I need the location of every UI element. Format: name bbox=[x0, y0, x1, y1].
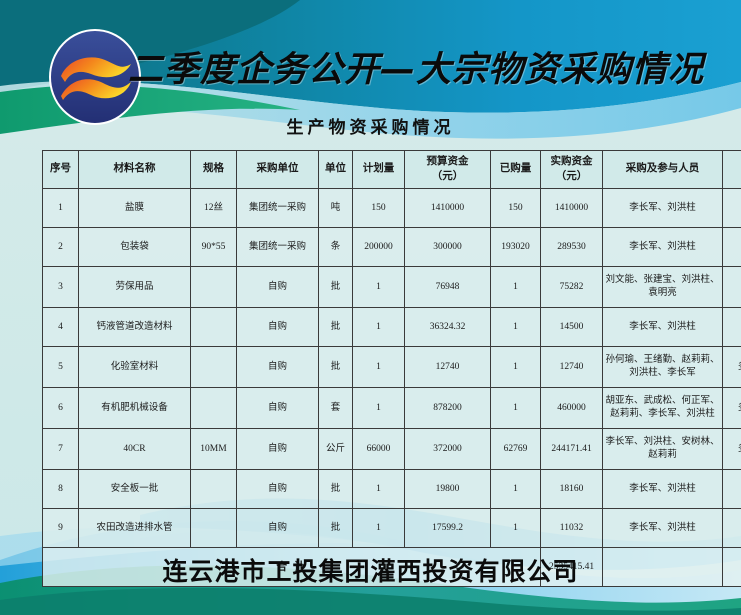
cell-people: 李长军、刘洪柱 bbox=[603, 189, 723, 228]
cell-material: 包装袋 bbox=[79, 228, 191, 267]
cell-budget-amount: 372000 bbox=[405, 429, 491, 470]
cell-purchased-qty: 1 bbox=[491, 388, 541, 429]
cell-unit: 批 bbox=[319, 267, 353, 308]
cell-unit: 批 bbox=[319, 308, 353, 347]
cell-material: 化验室材料 bbox=[79, 347, 191, 388]
cell-remark: 分批采购 bbox=[723, 509, 741, 548]
cell-remark: 库存40吨 bbox=[723, 189, 741, 228]
cell-people: 李长军、刘洪柱、安树林、 赵莉莉 bbox=[603, 429, 723, 470]
cell-no: 5 bbox=[43, 347, 79, 388]
cell-planned-qty: 1 bbox=[353, 470, 405, 509]
cell-planned-qty: 200000 bbox=[353, 228, 405, 267]
cell-purchased-qty: 1 bbox=[491, 347, 541, 388]
cell-unit: 批 bbox=[319, 470, 353, 509]
procurement-table-wrap: 序号 材料名称 规格 采购单位 单位 计划量 bbox=[42, 150, 700, 587]
cell-purchase-unit: 集团统一采购 bbox=[237, 228, 319, 267]
cell-purchase-unit: 自购 bbox=[237, 429, 319, 470]
col-header-planned-qty: 计划量 bbox=[353, 151, 405, 189]
cell-no: 6 bbox=[43, 388, 79, 429]
cell-actual-amount: 11032 bbox=[541, 509, 603, 548]
cell-planned-qty: 1 bbox=[353, 308, 405, 347]
cell-planned-qty: 1 bbox=[353, 388, 405, 429]
cell-material: 农田改造进排水管 bbox=[79, 509, 191, 548]
cell-remark: 筑包基地 bbox=[723, 228, 741, 267]
cell-actual-amount: 18160 bbox=[541, 470, 603, 509]
col-header-remark: 备注 bbox=[723, 151, 741, 189]
cell-spec: 10MM bbox=[191, 429, 237, 470]
cell-unit: 批 bbox=[319, 509, 353, 548]
cell-people: 李长军、刘洪柱 bbox=[603, 308, 723, 347]
cell-purchased-qty: 150 bbox=[491, 189, 541, 228]
cell-remark: 多部门参与 bbox=[723, 347, 741, 388]
cell-no: 1 bbox=[43, 189, 79, 228]
cell-unit: 条 bbox=[319, 228, 353, 267]
table-row: 9 农田改造进排水管 自购 批 1 17599.2 1 11032 李长军、刘洪… bbox=[43, 509, 741, 548]
cell-no: 2 bbox=[43, 228, 79, 267]
cell-remark: 分批采购 bbox=[723, 470, 741, 509]
col-header-purchase-unit: 采购单位 bbox=[237, 151, 319, 189]
table-row: 6 有机肥机械设备 自购 套 1 878200 1 460000 胡亚东、武成松… bbox=[43, 388, 741, 429]
cell-budget-amount: 12740 bbox=[405, 347, 491, 388]
cell-purchase-unit: 集团统一采购 bbox=[237, 189, 319, 228]
procurement-table: 序号 材料名称 规格 采购单位 单位 计划量 bbox=[42, 150, 741, 587]
table-header-row: 序号 材料名称 规格 采购单位 单位 计划量 bbox=[43, 151, 741, 189]
cell-budget-amount: 76948 bbox=[405, 267, 491, 308]
cell-planned-qty: 1 bbox=[353, 347, 405, 388]
cell-purchased-qty: 1 bbox=[491, 509, 541, 548]
cell-no: 9 bbox=[43, 509, 79, 548]
cell-no: 7 bbox=[43, 429, 79, 470]
cell-people: 李长军、刘洪柱 bbox=[603, 228, 723, 267]
cell-planned-qty: 1 bbox=[353, 509, 405, 548]
table-row: 4 钙液管道改造材料 自购 批 1 36324.32 1 14500 李长军、刘… bbox=[43, 308, 741, 347]
cell-people: 胡亚东、武成松、何正军、 赵莉莉、李长军、刘洪柱 bbox=[603, 388, 723, 429]
cell-actual-amount: 75282 bbox=[541, 267, 603, 308]
cell-budget-amount: 300000 bbox=[405, 228, 491, 267]
cell-purchased-qty: 1 bbox=[491, 470, 541, 509]
cell-unit: 套 bbox=[319, 388, 353, 429]
cell-spec: 90*55 bbox=[191, 228, 237, 267]
poster-root: 二季度企务公开—大宗物资采购情况 生产物资采购情况 序号 材料名称 规格 bbox=[0, 0, 741, 615]
table-row: 3 劳保用品 自购 批 1 76948 1 75282 刘文能、张建宝、刘洪柱、… bbox=[43, 267, 741, 308]
cell-people: 刘文能、张建宝、刘洪柱、 袁明亮 bbox=[603, 267, 723, 308]
cell-purchased-qty: 1 bbox=[491, 308, 541, 347]
table-body: 1 盐膜 12丝 集团统一采购 吨 150 1410000 150 141000… bbox=[43, 189, 741, 587]
page-title: 二季度企务公开—大宗物资采购情况 bbox=[128, 40, 728, 102]
cell-planned-qty: 150 bbox=[353, 189, 405, 228]
cell-budget-amount: 36324.32 bbox=[405, 308, 491, 347]
cell-remark: 多部门参与 bbox=[723, 388, 741, 429]
section-subtitle: 生产物资采购情况 bbox=[0, 113, 741, 138]
col-header-unit: 单位 bbox=[319, 151, 353, 189]
cell-purchase-unit: 自购 bbox=[237, 267, 319, 308]
cell-budget-amount: 878200 bbox=[405, 388, 491, 429]
cell-spec bbox=[191, 388, 237, 429]
cell-no: 8 bbox=[43, 470, 79, 509]
cell-purchase-unit: 自购 bbox=[237, 388, 319, 429]
col-header-material: 材料名称 bbox=[79, 151, 191, 189]
table-header: 序号 材料名称 规格 采购单位 单位 计划量 bbox=[43, 151, 741, 189]
cell-spec bbox=[191, 308, 237, 347]
col-header-spec: 规格 bbox=[191, 151, 237, 189]
cell-material: 钙液管道改造材料 bbox=[79, 308, 191, 347]
cell-people: 李长军、刘洪柱 bbox=[603, 470, 723, 509]
cell-actual-amount: 12740 bbox=[541, 347, 603, 388]
col-header-no: 序号 bbox=[43, 151, 79, 189]
cell-unit: 批 bbox=[319, 347, 353, 388]
cell-budget-amount: 19800 bbox=[405, 470, 491, 509]
cell-material: 劳保用品 bbox=[79, 267, 191, 308]
cell-budget-amount: 17599.2 bbox=[405, 509, 491, 548]
cell-remark: 劳保护具 bbox=[723, 267, 741, 308]
cell-material: 40CR bbox=[79, 429, 191, 470]
table-row: 2 包装袋 90*55 集团统一采购 条 200000 300000 19302… bbox=[43, 228, 741, 267]
col-header-budget-amount: 预算资金 （元） bbox=[405, 151, 491, 189]
cell-remark: 一次采购 bbox=[723, 308, 741, 347]
table-row: 8 安全板一批 自购 批 1 19800 1 18160 李长军、刘洪柱 分批采… bbox=[43, 470, 741, 509]
cell-people: 李长军、刘洪柱 bbox=[603, 509, 723, 548]
cell-remark: 多部门参与 bbox=[723, 429, 741, 470]
cell-purchased-qty: 193020 bbox=[491, 228, 541, 267]
cell-purchase-unit: 自购 bbox=[237, 509, 319, 548]
cell-actual-amount: 244171.41 bbox=[541, 429, 603, 470]
cell-no: 3 bbox=[43, 267, 79, 308]
cell-actual-amount: 14500 bbox=[541, 308, 603, 347]
company-footer: 连云港市工投集团灌西投资有限公司 bbox=[0, 552, 741, 588]
cell-people: 孙何瑜、王绪勤、赵莉莉、 刘洪柱、李长军 bbox=[603, 347, 723, 388]
cell-unit: 公斤 bbox=[319, 429, 353, 470]
cell-actual-amount: 289530 bbox=[541, 228, 603, 267]
cell-spec bbox=[191, 347, 237, 388]
col-header-actual-amount: 实购资金 （元） bbox=[541, 151, 603, 189]
cell-no: 4 bbox=[43, 308, 79, 347]
cell-purchase-unit: 自购 bbox=[237, 347, 319, 388]
cell-spec bbox=[191, 267, 237, 308]
cell-spec bbox=[191, 470, 237, 509]
col-header-people: 采购及参与人员 bbox=[603, 151, 723, 189]
table-row: 7 40CR 10MM 自购 公斤 66000 372000 62769 244… bbox=[43, 429, 741, 470]
table-row: 1 盐膜 12丝 集团统一采购 吨 150 1410000 150 141000… bbox=[43, 189, 741, 228]
cell-planned-qty: 1 bbox=[353, 267, 405, 308]
cell-purchased-qty: 1 bbox=[491, 267, 541, 308]
cell-actual-amount: 460000 bbox=[541, 388, 603, 429]
cell-planned-qty: 66000 bbox=[353, 429, 405, 470]
cell-material: 有机肥机械设备 bbox=[79, 388, 191, 429]
cell-unit: 吨 bbox=[319, 189, 353, 228]
cell-purchased-qty: 62769 bbox=[491, 429, 541, 470]
cell-material: 安全板一批 bbox=[79, 470, 191, 509]
table-row: 5 化验室材料 自购 批 1 12740 1 12740 孙何瑜、王绪勤、赵莉莉… bbox=[43, 347, 741, 388]
cell-material: 盐膜 bbox=[79, 189, 191, 228]
cell-actual-amount: 1410000 bbox=[541, 189, 603, 228]
col-header-purchased-qty: 已购量 bbox=[491, 151, 541, 189]
cell-purchase-unit: 自购 bbox=[237, 308, 319, 347]
cell-budget-amount: 1410000 bbox=[405, 189, 491, 228]
cell-spec bbox=[191, 509, 237, 548]
cell-spec: 12丝 bbox=[191, 189, 237, 228]
cell-purchase-unit: 自购 bbox=[237, 470, 319, 509]
